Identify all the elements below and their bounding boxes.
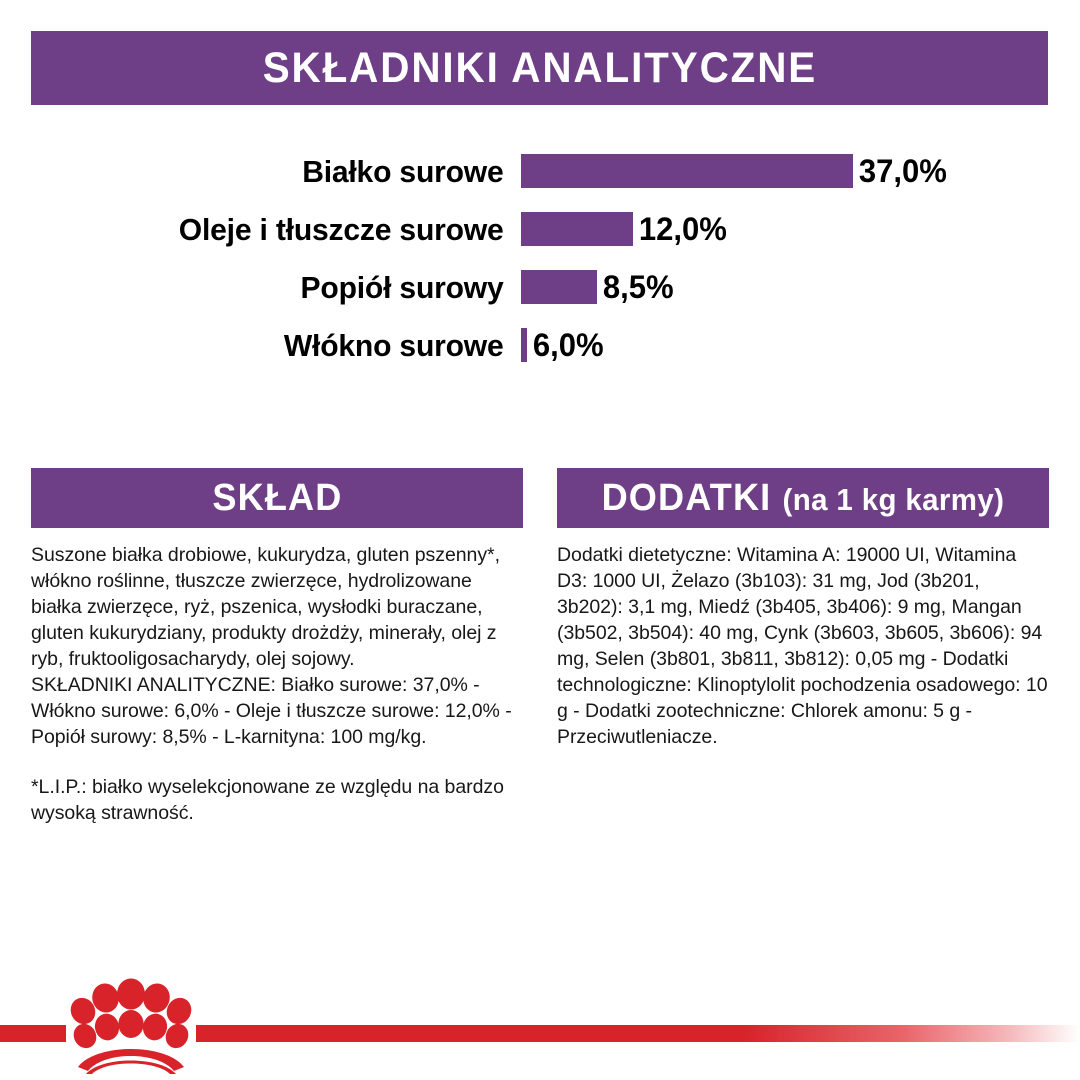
chart-bar-wrap	[521, 200, 633, 258]
chart-category-label: Włókno surowe	[16, 330, 521, 361]
composition-section-header: SKŁAD	[31, 468, 523, 528]
chart-value-label: 37,0%	[853, 155, 947, 187]
chart-row: Włókno surowe 6,0%	[0, 316, 1080, 374]
chart-category-label: Popiół surowy	[16, 272, 521, 303]
additives-section-body: Dodatki dietetyczne: Witamina A: 19000 U…	[557, 528, 1049, 750]
chart-bar	[521, 270, 597, 304]
composition-section-body: Suszone białka drobiowe, kukurydza, glut…	[31, 528, 523, 826]
chart-row: Popiół surowy 8,5%	[0, 258, 1080, 316]
chart-row: Białko surowe 37,0%	[0, 142, 1080, 200]
chart-bar	[521, 212, 633, 246]
chart-row: Oleje i tłuszcze surowe 12,0%	[0, 200, 1080, 258]
composition-footnote: *L.I.P.: białko wyselekcjonowane ze wzgl…	[31, 774, 523, 826]
footer-logo-strip	[0, 962, 1080, 1080]
footer-rule-left	[0, 1025, 66, 1042]
page-title: SKŁADNIKI ANALITYCZNE	[262, 47, 816, 90]
chart-value-label: 8,5%	[597, 271, 674, 303]
composition-ingredients-text: Suszone białka drobiowe, kukurydza, glut…	[31, 542, 523, 672]
additives-header-main: DODATKI	[602, 477, 772, 519]
additives-section: DODATKI (na 1 kg karmy) Dodatki dietetyc…	[557, 468, 1049, 750]
composition-section: SKŁAD Suszone białka drobiowe, kukurydza…	[31, 468, 523, 826]
chart-value-label: 12,0%	[633, 213, 727, 245]
additives-text: Dodatki dietetyczne: Witamina A: 19000 U…	[557, 542, 1049, 750]
additives-section-header: DODATKI (na 1 kg karmy)	[557, 468, 1049, 528]
composition-header-label: SKŁAD	[212, 479, 342, 517]
composition-analytical-text: SKŁADNIKI ANALITYCZNE: Białko surowe: 37…	[31, 672, 523, 750]
additives-header-label: DODATKI (na 1 kg karmy)	[602, 479, 1005, 517]
royal-canin-crown-icon	[66, 970, 196, 1074]
chart-category-label: Białko surowe	[16, 156, 521, 187]
chart-bar	[521, 154, 853, 188]
chart-bar-wrap	[521, 258, 597, 316]
chart-category-label: Oleje i tłuszcze surowe	[16, 214, 521, 245]
page-title-banner: SKŁADNIKI ANALITYCZNE	[31, 31, 1048, 105]
additives-header-sub: (na 1 kg karmy)	[783, 482, 1005, 517]
footer-rule-right	[196, 1025, 1080, 1042]
chart-value-label: 6,0%	[527, 329, 604, 361]
chart-bar-wrap	[521, 142, 853, 200]
analytical-constituents-chart: Białko surowe 37,0% Oleje i tłuszcze sur…	[0, 142, 1080, 382]
